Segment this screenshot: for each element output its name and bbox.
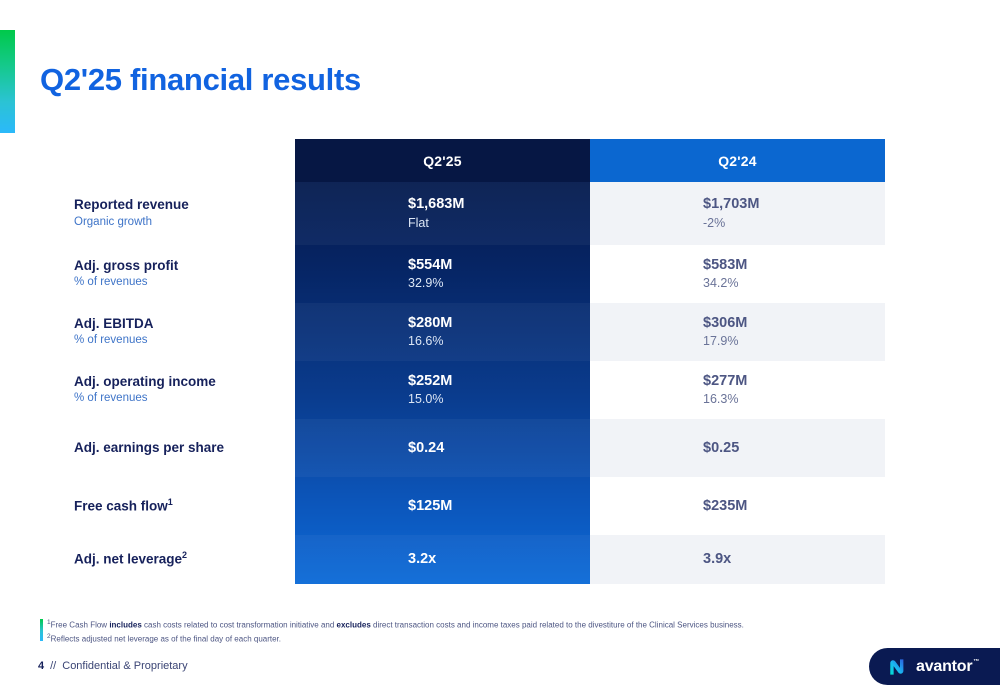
footnote-1-part2: cash costs related to cost transformatio… [142,621,337,630]
table-cell: $0.24 [295,419,590,477]
footnote-2-text: Reflects adjusted net leverage as of the… [51,635,281,644]
table-cell: $0.25 [590,419,885,477]
row-label-sub: % of revenues [74,275,296,290]
table-row-label: Free cash flow1 [74,477,296,535]
cell-value: $306M [703,314,885,333]
footer-separator: // [50,660,56,672]
cell-subvalue: 17.9% [703,333,885,350]
table-row-label: Adj. net leverage2 [74,535,296,584]
table-row-label: Reported revenue Organic growth [74,182,296,245]
table-row-label: Adj. operating income % of revenues [74,361,296,419]
row-label-main: Reported revenue [74,197,296,214]
table-row-label: Adj. earnings per share [74,419,296,477]
footnote-1-bold2: excludes [337,621,371,630]
cell-value: $1,703M [703,195,885,214]
footnote-2: 2Reflects adjusted net leverage as of th… [47,632,867,646]
table-cell: $235M [590,477,885,535]
table-cell: $583M 34.2% [590,245,885,303]
row-label-main: Adj. gross profit [74,258,296,275]
cell-subvalue: -2% [703,215,885,232]
footnote-1-part3: direct transaction costs and income taxe… [371,621,744,630]
cell-value: $583M [703,256,885,275]
avantor-mark-path [890,659,903,674]
slide-footer: 4 // Confidential & Proprietary [38,660,188,672]
cell-value: $554M [408,256,590,275]
table-cell: $1,683M Flat [295,182,590,245]
footnote-1-part1: Free Cash Flow [51,621,110,630]
table-cell: $306M 17.9% [590,303,885,361]
cell-value: $0.24 [408,439,590,458]
cell-subvalue: 32.9% [408,275,590,292]
cell-subvalue: 16.6% [408,333,590,350]
footnote-accent-bar [40,619,43,641]
footnote-marker: 2 [182,550,187,560]
footnote-1-bold1: includes [109,621,141,630]
row-label-column: Reported revenue Organic growth Adj. gro… [74,139,296,584]
cell-value: $1,683M [408,195,590,214]
financial-results-table: Reported revenue Organic growth Adj. gro… [74,139,885,584]
avantor-logo: avantor™ [869,648,1000,685]
footnotes: 1Free Cash Flow includes cash costs rela… [47,618,867,646]
cell-value: $252M [408,372,590,391]
row-label-main: Adj. net leverage2 [74,550,296,568]
cell-subvalue: Flat [408,215,590,232]
page-title: Q2'25 financial results [40,62,361,98]
table-cell: $252M 15.0% [295,361,590,419]
table-row-label: Adj. EBITDA % of revenues [74,303,296,361]
cell-value: $125M [408,497,590,516]
table-cell: 3.2x [295,535,590,584]
avantor-mark-icon [889,658,911,676]
trademark-symbol: ™ [973,659,979,665]
column-q2-25: Q2'25 $1,683M Flat $554M 32.9% $280M 16.… [295,139,590,584]
cell-value: $0.25 [703,439,885,458]
table-cell: $277M 16.3% [590,361,885,419]
cell-subvalue: 15.0% [408,391,590,408]
table-cell: $1,703M -2% [590,182,885,245]
row-label-sub: % of revenues [74,333,296,348]
cell-value: 3.9x [703,550,885,569]
footnote-1: 1Free Cash Flow includes cash costs rela… [47,618,867,632]
confidentiality-notice: Confidential & Proprietary [62,660,187,672]
cell-subvalue: 16.3% [703,391,885,408]
cell-subvalue: 34.2% [703,275,885,292]
column-q2-24: Q2'24 $1,703M -2% $583M 34.2% $306M 17.9… [590,139,885,584]
cell-value: $280M [408,314,590,333]
row-label-main: Free cash flow1 [74,497,296,515]
row-label-main: Adj. earnings per share [74,440,296,457]
cell-value: $235M [703,497,885,516]
row-label-sub: Organic growth [74,215,296,230]
table-cell: $280M 16.6% [295,303,590,361]
page-number: 4 [38,660,44,672]
title-accent-bar [0,30,15,133]
table-cell: $554M 32.9% [295,245,590,303]
table-cell: $125M [295,477,590,535]
table-row-label: Adj. gross profit % of revenues [74,245,296,303]
cell-value: $277M [703,372,885,391]
column-header-q2-25: Q2'25 [295,139,590,182]
row-label-main: Adj. operating income [74,374,296,391]
table-cell: 3.9x [590,535,885,584]
column-header-q2-24: Q2'24 [590,139,885,182]
row-label-sub: % of revenues [74,391,296,406]
cell-value: 3.2x [408,550,590,569]
footnote-marker: 1 [168,497,173,507]
avantor-wordmark: avantor™ [916,658,979,676]
row-label-main: Adj. EBITDA [74,316,296,333]
